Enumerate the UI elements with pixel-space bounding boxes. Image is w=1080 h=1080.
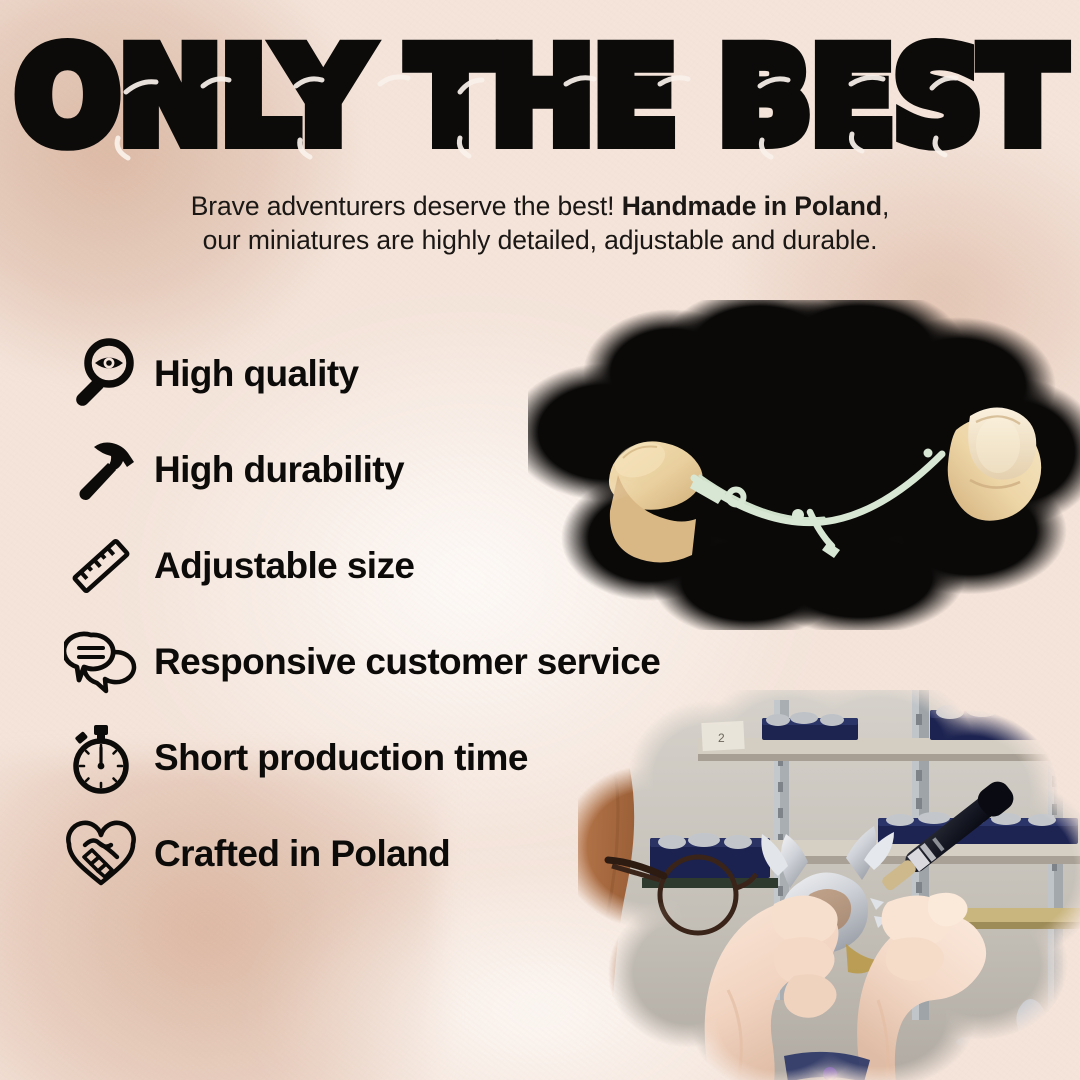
feature-item-adjustable-size: Adjustable size — [62, 518, 822, 614]
subtitle-line-2: our miniatures are highly detailed, adju… — [0, 224, 1080, 258]
magnifier-eye-icon — [62, 335, 140, 413]
feature-list: High quality High durability — [62, 326, 822, 902]
feature-item-high-durability: High durability — [62, 422, 822, 518]
feature-label: Crafted in Poland — [154, 833, 450, 875]
stopwatch-icon — [62, 719, 140, 797]
feature-item-production-time: Short production time — [62, 710, 822, 806]
subtitle-emphasis: Handmade in Poland — [622, 191, 882, 221]
subtitle-lead: Brave adventurers deserve the best! — [191, 191, 622, 221]
speech-bubbles-icon — [62, 623, 140, 701]
subtitle: Brave adventurers deserve the best! Hand… — [0, 190, 1080, 258]
feature-label: High durability — [154, 449, 404, 491]
ruler-icon — [62, 527, 140, 605]
feature-label: Short production time — [154, 737, 528, 779]
heart-handshake-icon — [62, 815, 140, 893]
subtitle-tail: , — [882, 191, 889, 221]
feature-label: Responsive customer service — [154, 641, 660, 683]
feature-label: Adjustable size — [154, 545, 414, 587]
feature-item-customer-service: Responsive customer service — [62, 614, 822, 710]
subtitle-line-1: Brave adventurers deserve the best! Hand… — [0, 190, 1080, 224]
feature-item-high-quality: High quality — [62, 326, 822, 422]
feature-item-crafted-in-poland: Crafted in Poland — [62, 806, 822, 902]
feature-label: High quality — [154, 353, 359, 395]
page-title: ONLY THE BEST — [0, 40, 1080, 156]
page-title-text: ONLY THE BEST — [16, 33, 1064, 163]
promo-poster: ONLY THE BEST Brav — [0, 0, 1080, 1080]
hammer-icon — [62, 431, 140, 509]
